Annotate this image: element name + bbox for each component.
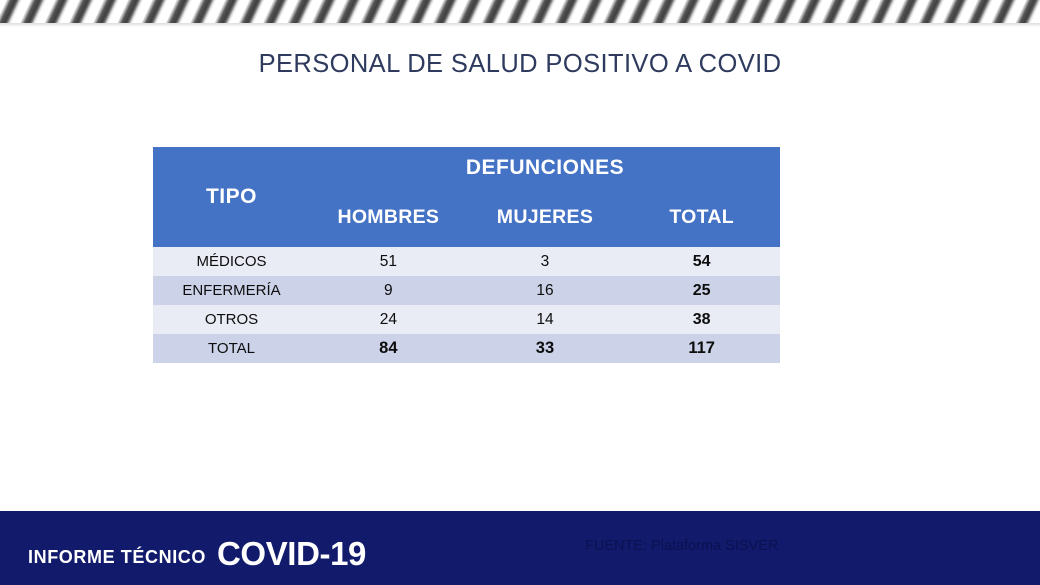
table-header-row-group: TIPO DEFUNCIONES (153, 147, 780, 188)
cell-total: 25 (623, 276, 780, 305)
table-body: MÉDICOS 51 3 54 ENFERMERÍA 9 16 25 OTROS… (153, 247, 780, 363)
cell-hombres: 24 (310, 305, 467, 334)
footer-brand-prefix: INFORME TÉCNICO (28, 547, 206, 568)
page-title: PERSONAL DE SALUD POSITIVO A COVID (0, 50, 1040, 79)
diagonal-stripe-band-icon (0, 0, 1040, 23)
cell-hombres: 51 (310, 247, 467, 276)
cell-tipo: OTROS (153, 305, 310, 334)
column-header-tipo: TIPO (153, 147, 310, 247)
table-row: OTROS 24 14 38 (153, 305, 780, 334)
cell-tipo: TOTAL (153, 334, 310, 363)
table-row: ENFERMERÍA 9 16 25 (153, 276, 780, 305)
deaths-by-personnel-table: TIPO DEFUNCIONES HOMBRES MUJERES TOTAL M… (153, 147, 780, 363)
cell-total: 117 (623, 334, 780, 363)
cell-mujeres: 3 (467, 247, 624, 276)
column-header-mujeres: MUJERES (467, 188, 624, 247)
column-header-total: TOTAL (623, 188, 780, 247)
column-group-header-defunciones: DEFUNCIONES (310, 147, 780, 188)
column-header-hombres: HOMBRES (310, 188, 467, 247)
footer-brand-main: COVID-19 (217, 535, 366, 573)
cell-hombres: 84 (310, 334, 467, 363)
footer-brand: INFORME TÉCNICO COVID-19 (28, 533, 366, 571)
cell-total: 38 (623, 305, 780, 334)
table-row: MÉDICOS 51 3 54 (153, 247, 780, 276)
table-row-total: TOTAL 84 33 117 (153, 334, 780, 363)
source-note: FUENTE: Plataforma SISVER (585, 538, 778, 554)
cell-tipo: MÉDICOS (153, 247, 310, 276)
cell-mujeres: 14 (467, 305, 624, 334)
table-head: TIPO DEFUNCIONES HOMBRES MUJERES TOTAL (153, 147, 780, 247)
footer-bar: INFORME TÉCNICO COVID-19 (0, 511, 1040, 585)
slide-canvas: PERSONAL DE SALUD POSITIVO A COVID TIPO … (0, 0, 1040, 585)
cell-hombres: 9 (310, 276, 467, 305)
cell-total: 54 (623, 247, 780, 276)
cell-mujeres: 16 (467, 276, 624, 305)
stripe-band-shadow (0, 23, 1040, 27)
cell-tipo: ENFERMERÍA (153, 276, 310, 305)
data-table-container: TIPO DEFUNCIONES HOMBRES MUJERES TOTAL M… (153, 147, 780, 363)
cell-mujeres: 33 (467, 334, 624, 363)
